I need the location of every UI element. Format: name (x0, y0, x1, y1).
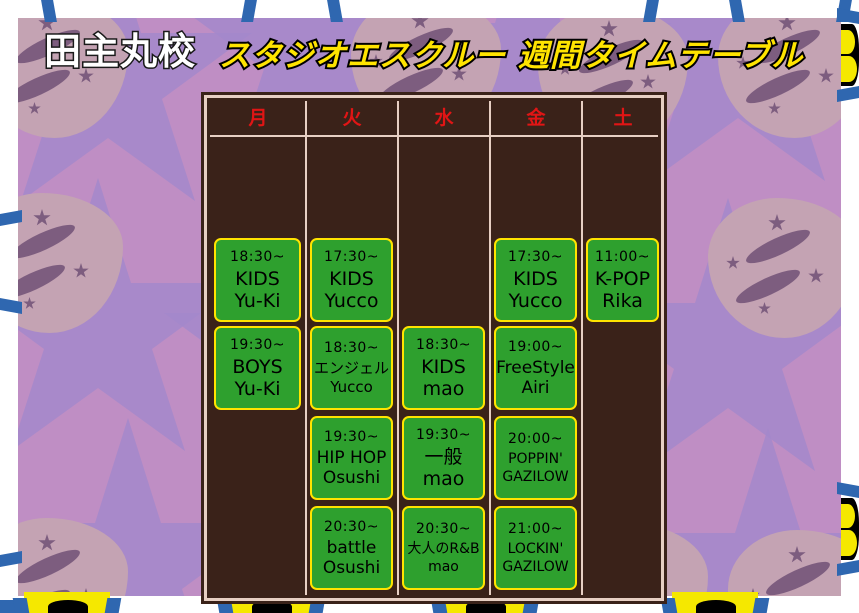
class-cell[interactable]: 20:30~大人のR&Bmao (402, 506, 485, 590)
class-cell[interactable]: 17:30~KIDSYucco (494, 238, 577, 322)
class-time: 20:00~ (508, 431, 563, 448)
class-cell[interactable]: 19:00~FreeStyleAiri (494, 326, 577, 410)
class-time: 17:30~ (324, 249, 379, 266)
edge-ornament (252, 600, 292, 613)
day-header-label: 水 (434, 107, 453, 129)
page-title: スタジオエスクルー 週間タイムテーブル (219, 38, 803, 74)
class-name: K-POP (595, 268, 650, 290)
class-time: 20:30~ (324, 519, 379, 536)
class-instructor: Yu-Ki (234, 378, 280, 400)
edge-ornament (48, 600, 88, 613)
class-cell[interactable]: 18:30~KIDSYu-Ki (214, 238, 301, 322)
class-cell[interactable]: 20:30~battleOsushi (310, 506, 393, 590)
day-header-1: 火 (306, 101, 398, 135)
class-cell[interactable]: 19:30~HIP HOPOsushi (310, 416, 393, 500)
edge-ornament (466, 600, 506, 613)
class-time: 18:30~ (324, 340, 379, 357)
class-cell[interactable]: 20:00~POPPIN'GAZILOW (494, 416, 577, 500)
class-instructor: mao (423, 378, 465, 400)
class-name: KIDS (421, 356, 466, 378)
class-instructor: mao (423, 468, 465, 490)
class-name: KIDS (329, 268, 374, 290)
day-header-0: 月 (210, 101, 306, 135)
class-time: 19:30~ (230, 337, 285, 354)
class-name: KIDS (513, 268, 558, 290)
edge-ornament (841, 504, 855, 528)
class-name: BOYS (232, 356, 282, 378)
class-instructor: Yucco (509, 290, 563, 312)
class-name: LOCKIN' (508, 540, 564, 558)
grid-rule-vertical (305, 101, 307, 595)
grid-rule-horizontal (210, 135, 658, 137)
class-name: 一般 (424, 446, 462, 468)
day-header-3: 金 (490, 101, 582, 135)
class-instructor: mao (428, 558, 459, 576)
grid-rule-vertical (489, 101, 491, 595)
class-time: 19:30~ (324, 429, 379, 446)
grid-rule-vertical (581, 101, 583, 595)
class-name: HIP HOP (317, 448, 387, 468)
class-instructor: Yu-Ki (234, 290, 280, 312)
cloud-blob (718, 18, 841, 138)
blue-tab (105, 598, 122, 613)
poster-canvas: 田主丸校 スタジオエスクルー 週間タイムテーブル 月火水金土18:30~KIDS… (0, 0, 859, 613)
class-instructor: Osushi (323, 558, 380, 578)
timetable-board: 月火水金土18:30~KIDSYu-Ki17:30~KIDSYucco17:30… (204, 95, 664, 601)
school-name-label: 田主丸校 (44, 32, 196, 72)
day-header-label: 土 (613, 107, 632, 129)
class-instructor: Yucco (330, 378, 373, 397)
class-time: 20:30~ (416, 521, 471, 538)
class-instructor: Yucco (325, 290, 379, 312)
class-instructor: Airi (521, 378, 549, 398)
blue-tab (13, 598, 30, 613)
class-name: エンジェル (314, 359, 389, 378)
class-cell[interactable]: 18:30~エンジェルYucco (310, 326, 393, 410)
class-cell[interactable]: 18:30~KIDSmao (402, 326, 485, 410)
class-time: 11:00~ (595, 249, 650, 266)
day-header-label: 火 (342, 107, 361, 129)
class-cell[interactable]: 11:00~K-POPRika (586, 238, 659, 322)
day-header-4: 土 (582, 101, 664, 135)
class-instructor: GAZILOW (502, 468, 568, 486)
edge-ornament (841, 530, 857, 556)
class-cell[interactable]: 17:30~KIDSYucco (310, 238, 393, 322)
edge-ornament (841, 30, 855, 54)
class-instructor: GAZILOW (502, 558, 568, 576)
day-header-label: 月 (248, 107, 267, 129)
class-name: 大人のR&B (407, 540, 479, 558)
class-name: battle (327, 538, 377, 558)
class-time: 18:30~ (230, 249, 285, 266)
class-time: 21:00~ (508, 521, 563, 538)
class-time: 17:30~ (508, 249, 563, 266)
class-time: 19:30~ (416, 427, 471, 444)
class-cell[interactable]: 19:30~一般mao (402, 416, 485, 500)
grid-rule-vertical (397, 101, 399, 595)
edge-ornament (841, 56, 857, 82)
edge-ornament (696, 600, 736, 613)
blue-tab (753, 598, 770, 613)
class-name: KIDS (235, 268, 280, 290)
class-cell[interactable]: 21:00~LOCKIN'GAZILOW (494, 506, 577, 590)
timetable-grid: 月火水金土18:30~KIDSYu-Ki17:30~KIDSYucco17:30… (210, 101, 658, 595)
class-cell[interactable]: 19:30~BOYSYu-Ki (214, 326, 301, 410)
class-instructor: Osushi (323, 468, 380, 488)
class-name: POPPIN' (508, 450, 563, 468)
class-time: 19:00~ (508, 339, 563, 356)
day-header-2: 水 (398, 101, 490, 135)
day-header-label: 金 (526, 107, 545, 129)
class-name: FreeStyle (496, 358, 575, 378)
class-instructor: Rika (602, 290, 643, 312)
class-time: 18:30~ (416, 337, 471, 354)
